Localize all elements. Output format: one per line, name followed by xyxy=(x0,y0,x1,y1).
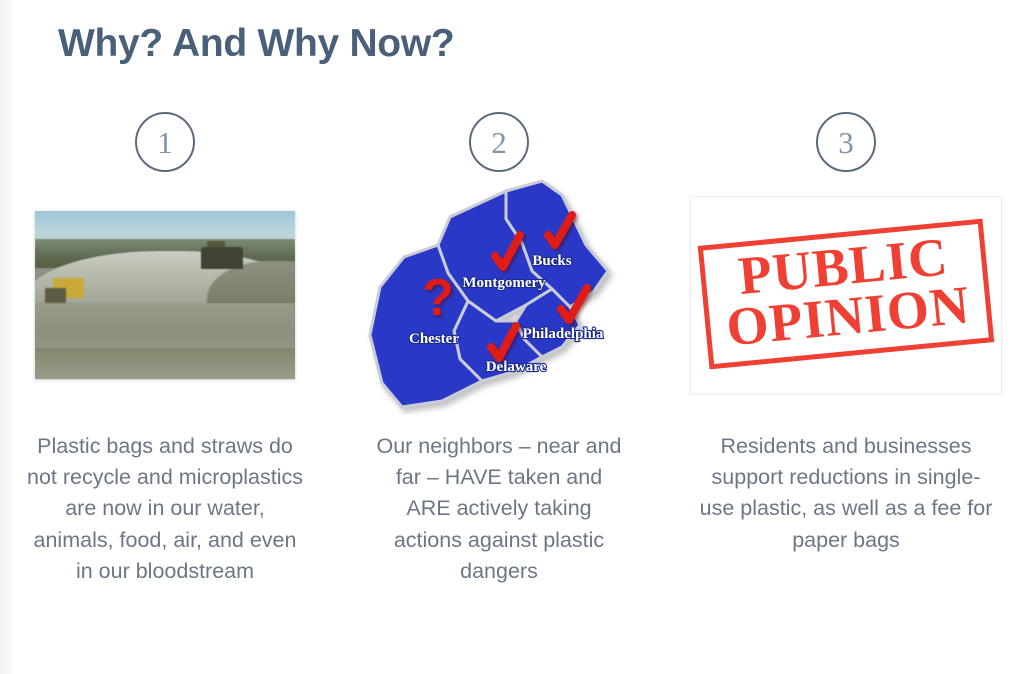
photo-bulldozer xyxy=(201,247,243,269)
column-2: 2 xyxy=(330,112,668,672)
column-3: 3 PUBLIC OPINION Residents and businesse… xyxy=(668,112,1024,672)
column-1-visual xyxy=(0,172,330,417)
public-opinion-image: PUBLIC OPINION xyxy=(691,197,1001,393)
step-number-1: 1 xyxy=(135,112,195,172)
question-mark-chester: ? xyxy=(422,269,454,327)
county-label-delaware: Delaware xyxy=(486,359,547,375)
three-column-layout: 1 Plastic bags and straws do not recycle… xyxy=(0,112,1024,672)
column-1-caption: Plastic bags and straws do not recycle a… xyxy=(25,431,305,587)
photo-loader-body xyxy=(45,288,66,303)
step-number-3: 3 xyxy=(816,112,876,172)
step-number-3-label: 3 xyxy=(838,127,854,158)
county-label-bucks: Bucks xyxy=(532,253,571,269)
county-label-chester: Chester xyxy=(409,331,459,347)
county-label-philadelphia: Philadelphia xyxy=(523,326,604,342)
column-2-caption: Our neighbors – near and far – HAVE take… xyxy=(374,431,624,587)
step-number-2: 2 xyxy=(469,112,529,172)
column-1: 1 Plastic bags and straws do not recycle… xyxy=(0,112,330,672)
column-3-caption: Residents and businesses support reducti… xyxy=(696,431,996,556)
column-2-visual: Bucks Montgomery Philadelphia Delaware C… xyxy=(330,172,668,417)
public-opinion-stamp: PUBLIC OPINION xyxy=(698,219,995,370)
page-title: Why? And Why Now? xyxy=(58,22,454,66)
slide-canvas: Why? And Why Now? 1 xyxy=(0,0,1024,674)
county-map-svg: Bucks Montgomery Philadelphia Delaware C… xyxy=(356,175,642,415)
county-label-montgomery: Montgomery xyxy=(462,275,546,291)
step-number-1-label: 1 xyxy=(157,127,173,158)
landfill-photo xyxy=(35,211,295,379)
county-map: Bucks Montgomery Philadelphia Delaware C… xyxy=(356,175,642,415)
photo-foreground xyxy=(35,348,295,378)
step-number-2-label: 2 xyxy=(491,127,507,158)
column-3-visual: PUBLIC OPINION xyxy=(668,172,1024,417)
